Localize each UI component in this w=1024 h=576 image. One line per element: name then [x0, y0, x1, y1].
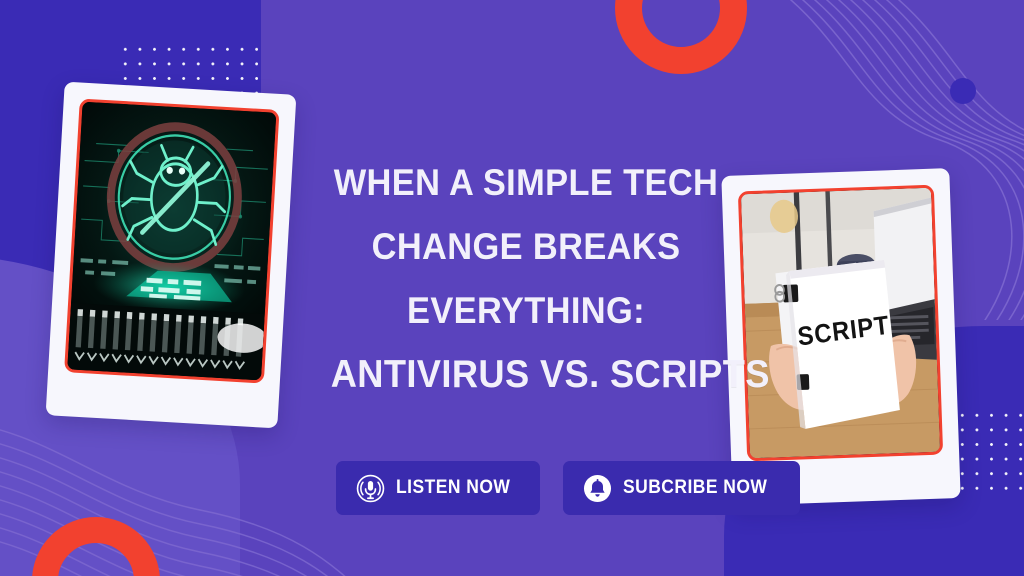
virus-hologram-icon: [67, 102, 276, 381]
headline-line-1: When a simple tech: [331, 151, 722, 215]
hands-holding-script-icon: SCRIPT: [741, 188, 940, 458]
headline-line-2: change breaks: [331, 215, 722, 279]
podcast-microphone-icon: [356, 474, 385, 503]
subscribe-now-label: Subcribe Now: [623, 477, 767, 499]
antivirus-bug-photo: [64, 98, 279, 383]
ring-top-right-icon: [615, 0, 747, 74]
left-photo-frame[interactable]: [46, 82, 297, 429]
podcast-cover-canvas: SCRIPT When a simple tech change breaks …: [0, 0, 1024, 576]
bell-icon: [583, 474, 612, 503]
dark-circle-top-right-icon: [950, 78, 976, 104]
headline-line-3: everything:: [331, 279, 722, 343]
cta-button-row: Listen Now Subcribe Now: [336, 461, 800, 515]
ring-bottom-left-icon: [32, 517, 160, 576]
dot-grid-bottom-right-icon: [955, 408, 1024, 490]
right-photo-frame[interactable]: SCRIPT: [721, 168, 960, 506]
listen-now-button[interactable]: Listen Now: [336, 461, 540, 515]
script-document-photo: SCRIPT: [738, 185, 943, 462]
page-title: When a simple tech change breaks everyth…: [331, 151, 722, 407]
wave-lines-bottom-left-icon: [0, 410, 370, 576]
subscribe-now-button[interactable]: Subcribe Now: [563, 461, 800, 515]
listen-now-label: Listen Now: [396, 477, 510, 499]
headline-line-4: Antivirus vs. Scripts: [331, 343, 722, 407]
